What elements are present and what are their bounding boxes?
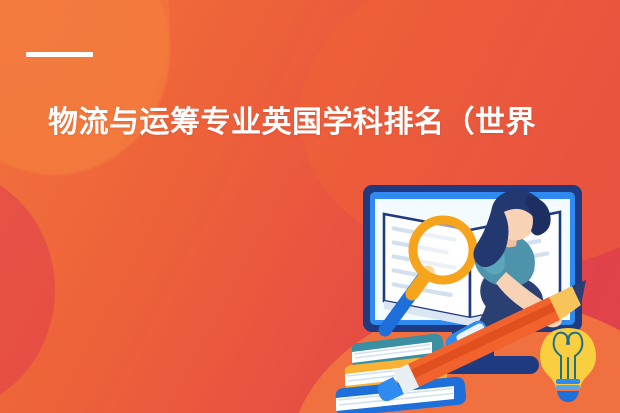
article-cover-banner: 物流与运筹专业英国学科排名（世界 xyxy=(0,0,620,413)
lightbulb-base-stripe-2 xyxy=(556,385,580,390)
lightbulb-base-stripe-1 xyxy=(556,379,580,384)
study-research-illustration xyxy=(0,0,620,413)
lightbulb-icon xyxy=(540,328,596,402)
magnifier-lens-glass xyxy=(418,225,469,276)
lightbulb-base-cap xyxy=(557,391,579,402)
